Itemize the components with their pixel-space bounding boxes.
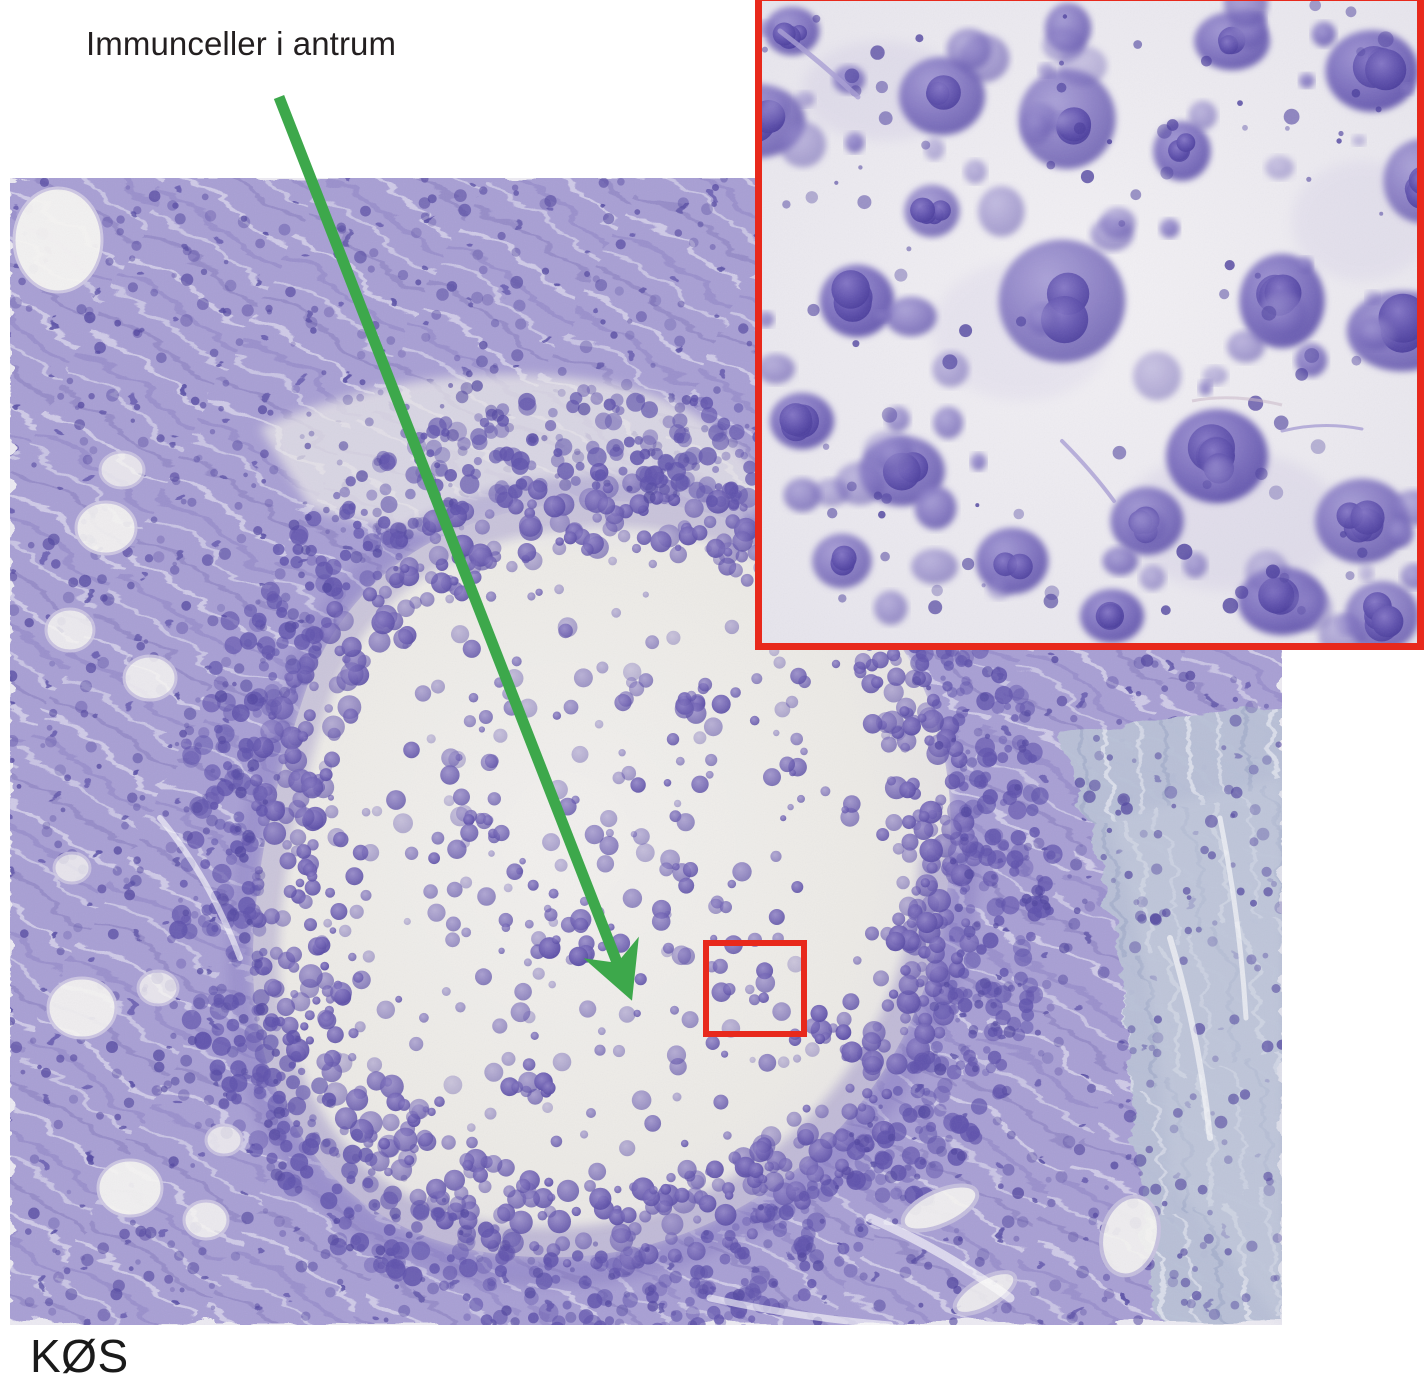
slide-footer-text: KØS: [30, 1330, 129, 1382]
slide-canvas: Immunceller i antrum KØS: [0, 0, 1424, 1354]
annotation-caption: Immunceller i antrum: [86, 24, 396, 64]
region-of-interest-box: [703, 940, 807, 1037]
magnified-immune-cells-inset: [755, 0, 1424, 650]
